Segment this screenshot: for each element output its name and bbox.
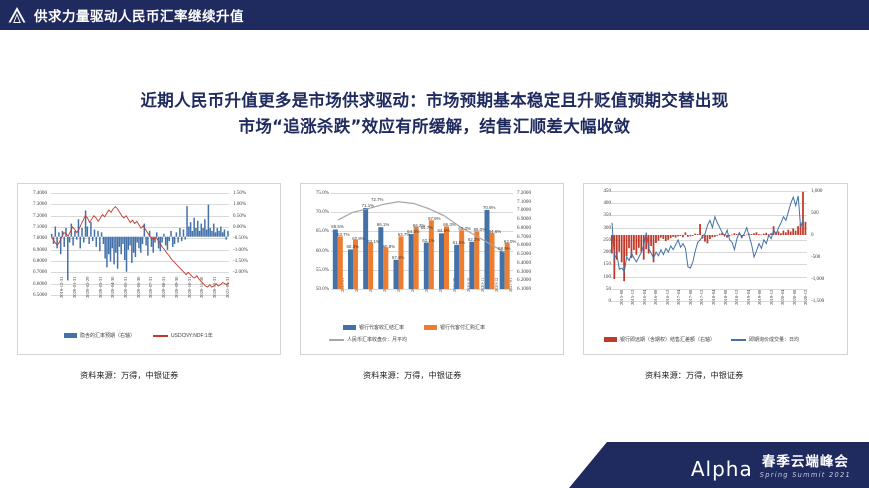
axis-tick-label: 7.0000 xyxy=(517,207,531,213)
axis-tick-label: 350 xyxy=(585,212,611,218)
axis-tick-label: -1,000 xyxy=(811,276,824,282)
top-bar-title: 供求力量驱动人民币汇率继续升值 xyxy=(34,5,244,25)
axis-tick-label: 250 xyxy=(585,237,611,243)
footer: Alpha 春季云端峰会 Spring Summit 2021 xyxy=(0,442,869,488)
axis-tick-label: 6.2000 xyxy=(517,277,531,283)
legend-swatch-bar-icon xyxy=(604,337,617,342)
axis-tick-label: 300 xyxy=(585,225,611,231)
source-note-1: 资料来源：万得，中银证券 xyxy=(80,369,178,381)
axis-tick-label: -2.00% xyxy=(233,269,248,275)
axis-tick-label: 6.5000 xyxy=(517,251,531,257)
data-label: 62.0% xyxy=(504,239,516,244)
chart2-legend-label-2: 人民币汇率收盘价：月平均 xyxy=(347,336,407,343)
charts-row: 隐含的汇率预期（右轴） USDCNY:NDF:1年 7.40007.30007.… xyxy=(0,183,869,358)
axis-tick-label: 500 xyxy=(811,210,819,216)
axis-tick-label: 450 xyxy=(585,188,611,194)
axis-tick-label: 6.3000 xyxy=(517,269,531,275)
axis-tick-label: 7.4000 xyxy=(21,190,47,196)
axis-tick-label: 50 xyxy=(585,286,611,292)
axis-tick-label: -1,500 xyxy=(811,298,824,304)
axis-tick-label: 7.3000 xyxy=(21,201,47,207)
axis-tick-label: 7.1000 xyxy=(517,199,531,205)
legend-swatch-line-icon xyxy=(731,339,746,341)
axis-tick-label: 0 xyxy=(811,232,814,238)
axis-tick-label: 6.6000 xyxy=(517,242,531,248)
axis-tick-label: 6.7000 xyxy=(21,269,47,275)
data-label: 60.3% xyxy=(346,244,358,249)
data-label: 65.0% xyxy=(474,227,486,232)
axis-tick-label: 1,000 xyxy=(811,188,822,194)
data-label-annotation: 72.7% xyxy=(371,197,383,202)
chart2-legend-row2: 人民币汇率收盘价：月平均 xyxy=(329,336,407,343)
grid-line xyxy=(611,301,807,302)
data-label: 62.1% xyxy=(367,239,379,244)
summit-name-en: Spring Summit 2021 xyxy=(760,472,851,479)
axis-tick-label: 1.50% xyxy=(233,190,246,196)
top-bar: 供求力量驱动人民币汇率继续升值 xyxy=(0,0,869,30)
legend-swatch-line-icon xyxy=(329,339,344,341)
data-label: 57.6% xyxy=(392,255,404,260)
chart3-series xyxy=(611,191,807,301)
chart2-legend-label-1: 银行代客付汇购汇率 xyxy=(440,324,485,331)
data-label: 65.3% xyxy=(458,226,470,231)
axis-tick-label: 65.0% xyxy=(303,228,329,234)
source-note-2: 资料来源：万得，中银证券 xyxy=(363,369,461,381)
chart-panel-3: 银行即远期（含期权）结售汇差额（右轴） 即期询价成交量：日均 450400350… xyxy=(583,183,848,355)
data-label: 60.8% xyxy=(383,244,395,249)
data-label: 63.7% xyxy=(398,232,410,237)
axis-tick-label: 6.7000 xyxy=(517,234,531,240)
axis-tick-label: 6.4000 xyxy=(517,260,531,266)
axis-tick-label: 0.00% xyxy=(233,224,246,230)
axis-tick-label: 200 xyxy=(585,249,611,255)
chart-panel-1: 隐含的汇率预期（右轴） USDCNY:NDF:1年 7.40007.30007.… xyxy=(17,183,281,355)
triangle-logo-icon xyxy=(0,0,34,30)
axis-tick-label: 70.0% xyxy=(303,209,329,215)
legend-swatch-bar-icon xyxy=(64,333,77,338)
axis-tick-label: 100 xyxy=(585,274,611,280)
axis-tick-label: 50.0% xyxy=(303,286,329,292)
footer-logo: Alpha 春季云端峰会 Spring Summit 2021 xyxy=(691,456,851,479)
chart3-legend-label-0: 银行即远期（含期权）结售汇差额（右轴） xyxy=(620,336,715,343)
data-label: 63.7% xyxy=(337,232,349,237)
chart1-legend: 隐含的汇率预期（右轴） USDCNY:NDF:1年 xyxy=(64,332,213,339)
data-label-annotation: 65.7% xyxy=(421,225,433,230)
page-title: 近期人民币升值更多是市场供求驱动：市场预期基本稳定且升贬值预期交替出现 市场“追… xyxy=(0,88,869,140)
axis-tick-label: 0 xyxy=(585,298,611,304)
data-label: 64.6% xyxy=(489,229,501,234)
summit-name-cn: 春季云端峰会 xyxy=(762,456,849,470)
axis-tick-label: 0.50% xyxy=(233,213,246,219)
axis-tick-label: 60.0% xyxy=(303,248,329,254)
axis-tick-label: 6.9000 xyxy=(21,247,47,253)
axis-tick-label: 55.0% xyxy=(303,267,329,273)
axis-tick-label: 75.0% xyxy=(303,190,329,196)
axis-tick-label: -0.50% xyxy=(233,235,248,241)
axis-tick-label: 7.2000 xyxy=(517,190,531,196)
chart1-series xyxy=(51,193,229,295)
alpha-wordmark: Alpha xyxy=(691,459,753,479)
axis-tick-label: 400 xyxy=(585,200,611,206)
data-label: 64.5% xyxy=(437,228,449,233)
axis-tick-label: 6.8000 xyxy=(517,225,531,231)
axis-tick-label: -1.50% xyxy=(233,258,248,264)
axis-tick-label: 6.6000 xyxy=(21,281,47,287)
data-label: 61.5% xyxy=(453,240,465,245)
chart3-legend: 银行即远期（含期权）结售汇差额（右轴） 即期询价成交量：日均 xyxy=(604,336,799,343)
axis-tick-label: 6.5000 xyxy=(21,292,47,298)
chart2-legend-label-0: 银行代客收汇结汇率 xyxy=(359,324,404,331)
data-label: 71.1% xyxy=(362,203,374,208)
data-label: 66.3% xyxy=(443,222,455,227)
axis-tick-label: 6.8000 xyxy=(21,258,47,264)
legend-swatch-line-icon xyxy=(153,335,168,337)
legend-swatch-bar-icon xyxy=(424,325,437,330)
axis-tick-label: -1.00% xyxy=(233,247,248,253)
legend-swatch-bar-icon xyxy=(343,325,356,330)
axis-tick-label: 1.00% xyxy=(233,201,246,207)
page-title-line-2: 市场“追涨杀跌”效应有所缓解，结售汇顺差大幅收敛 xyxy=(0,114,869,140)
chart2-legend-row1: 银行代客收汇结汇率 银行代客付汇购汇率 xyxy=(343,324,485,331)
axis-tick-label: 6.9000 xyxy=(517,216,531,222)
axis-tick-label: 150 xyxy=(585,261,611,267)
data-label: 62.1% xyxy=(422,238,434,243)
data-label: 62.3% xyxy=(468,237,480,242)
source-note-3: 资料来源：万得，中银证券 xyxy=(645,369,743,381)
data-label: 66.1% xyxy=(377,222,389,227)
data-label: 59.9% xyxy=(498,246,510,251)
chart1-legend-label-0: 隐含的汇率预期（右轴） xyxy=(80,332,135,339)
axis-tick-label: 6.1000 xyxy=(517,286,531,292)
data-label: 65.5% xyxy=(331,224,343,229)
chart-panel-2: 银行代客收汇结汇率 银行代客付汇购汇率 人民币汇率收盘价：月平均 75.0%70… xyxy=(300,183,564,355)
chart1-legend-label-1: USDCNY:NDF:1年 xyxy=(171,332,213,339)
data-label: 67.9% xyxy=(428,216,440,221)
axis-tick-label: -500 xyxy=(811,254,820,260)
page-title-line-1: 近期人民币升值更多是市场供求驱动：市场预期基本稳定且升贬值预期交替出现 xyxy=(0,88,869,114)
axis-tick-label: 7.1000 xyxy=(21,224,47,230)
axis-tick-label: 7.2000 xyxy=(21,213,47,219)
data-label: 62.8% xyxy=(352,236,364,241)
axis-tick-label: 7.0000 xyxy=(21,235,47,241)
chart3-legend-label-1: 即期询价成交量：日均 xyxy=(749,336,799,343)
data-label: 70.6% xyxy=(483,205,495,210)
